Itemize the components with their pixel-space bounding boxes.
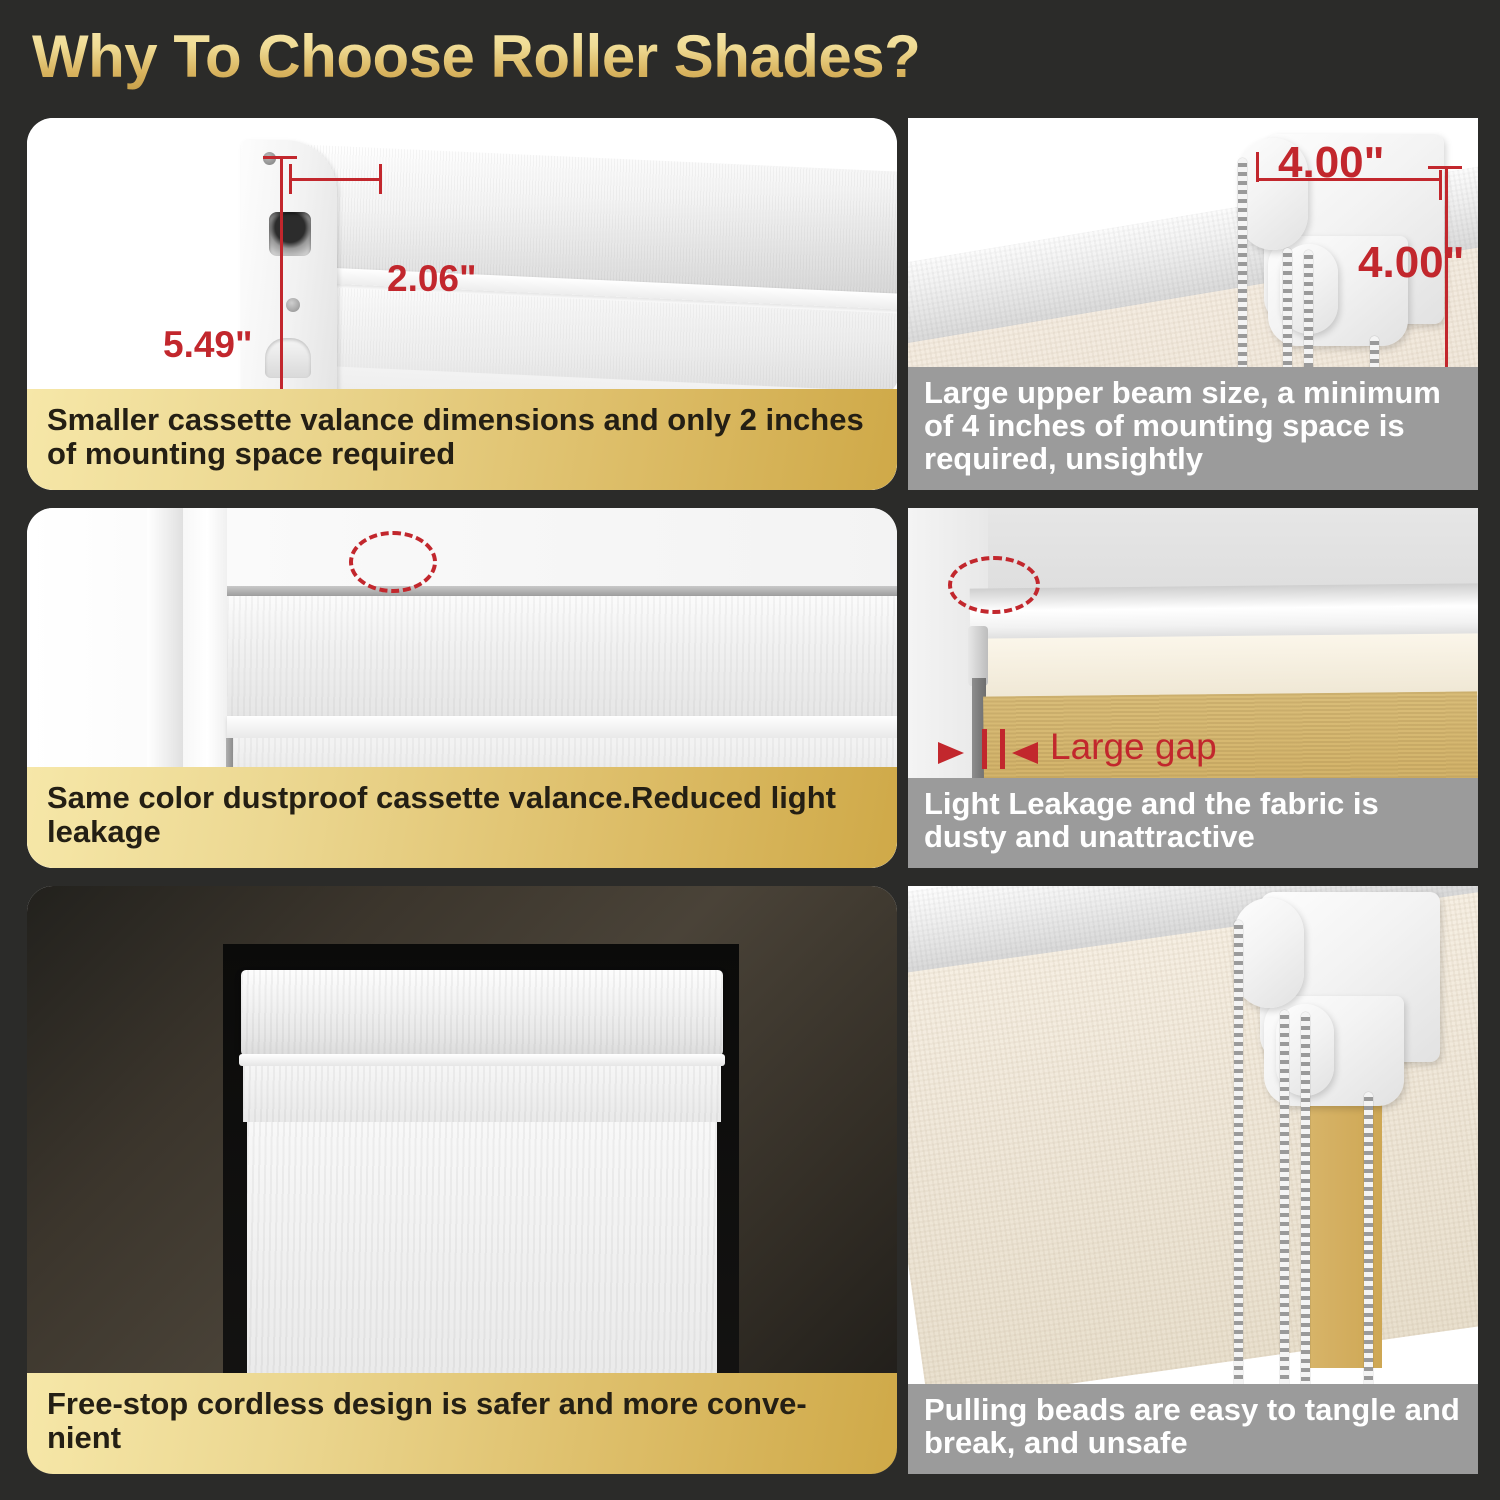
beam-width-tick-left xyxy=(1256,152,1259,182)
cassette-head-rail xyxy=(227,586,897,596)
panel-pulling-beads-unsafe: Pulling beads are easy to tangle and bre… xyxy=(908,886,1478,1474)
width-dimension-tick-right xyxy=(379,164,382,194)
bead-chain-middle xyxy=(1280,1010,1289,1420)
shade-upper-fabric xyxy=(243,1066,721,1122)
panel-dustproof-cassette-smaller-gap: smaller gap Same color dustproof cassett… xyxy=(27,508,897,868)
beam-width-tick-right xyxy=(1439,170,1442,200)
gap-arrow-right-icon xyxy=(1012,742,1038,764)
panel-free-stop-cordless: Free-stop cordless design is safer and m… xyxy=(27,886,897,1474)
shade-top-fabric xyxy=(978,633,1478,700)
panel-4-caption: Light Leakage and the fabric is dusty an… xyxy=(908,778,1478,868)
panel-2-caption: Large upper beam size, a minimum of 4 in… xyxy=(908,367,1478,490)
cassette-valance xyxy=(241,970,723,1056)
panel-light-leakage-large-gap: Large gap Light Leakage and the fabric i… xyxy=(908,508,1478,868)
height-dimension-label: 5.49" xyxy=(163,324,253,366)
bead-chain-right xyxy=(1301,1012,1310,1420)
highlight-circle-icon xyxy=(349,531,437,593)
cassette-lip xyxy=(239,1054,725,1066)
page-title: Why To Choose Roller Shades? xyxy=(32,22,920,91)
panel-cassette-valance-dimensions: 5.49" 2.06" Smaller cassette valance dim… xyxy=(27,118,897,490)
width-dimension-tick-left xyxy=(289,164,292,194)
roller-end-disc xyxy=(1234,898,1304,1008)
gap-marker-left xyxy=(982,729,987,769)
gap-arrow-left-icon xyxy=(938,742,964,764)
panel-1-caption: Smaller cassette valance dimensions and … xyxy=(27,389,897,490)
beam-height-dimension-label: 4.00" xyxy=(1358,238,1465,288)
infographic-page: Why To Choose Roller Shades? 5.49" xyxy=(0,0,1500,1500)
shade-upper-fabric xyxy=(227,596,897,716)
height-dimension-tick-top xyxy=(263,156,297,159)
beam-height-tick-top xyxy=(1428,166,1462,169)
cassette-lip xyxy=(227,716,897,738)
large-gap-label: Large gap xyxy=(1050,726,1217,768)
bead-chain-left xyxy=(1234,920,1243,1420)
gap-marker-right xyxy=(1000,729,1005,769)
bracket-clip xyxy=(968,626,988,686)
bead-chain-far-right xyxy=(1364,1092,1373,1420)
panel-3-caption: Same color dustproof cassette valance.Re… xyxy=(27,767,897,868)
width-dimension-line xyxy=(289,178,381,181)
panel-6-caption: Pulling beads are easy to tangle and bre… xyxy=(908,1384,1478,1474)
panel-5-caption: Free-stop cordless design is safer and m… xyxy=(27,1373,897,1474)
highlight-circle-icon xyxy=(948,556,1040,614)
width-dimension-label: 2.06" xyxy=(387,258,477,300)
panel-large-upper-beam: 4.00" 4.00" Large upper beam size, a min… xyxy=(908,118,1478,490)
beam-width-dimension-label: 4.00" xyxy=(1278,138,1385,188)
